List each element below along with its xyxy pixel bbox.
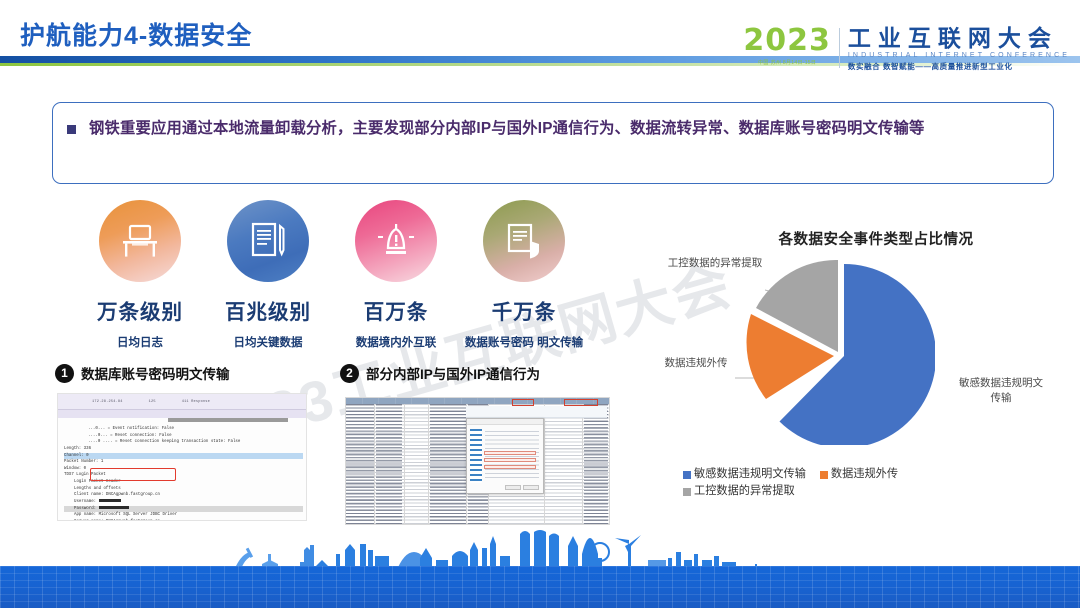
slide: 护航能力4-数据安全 2023 中国·苏州 8月14日-15日 工业互联网大会 … — [0, 0, 1080, 608]
legend-item-orange: 数据违规外传 — [820, 466, 898, 483]
highlight-box — [564, 399, 598, 406]
metric-card: 百万条 数据境内外互联 — [336, 200, 456, 352]
callout-orange: 数据违规外传 — [659, 356, 733, 371]
legend-swatch-orange — [820, 471, 828, 479]
dialog-ok-button[interactable] — [505, 485, 521, 490]
card-subtitle: 日均日志 — [80, 336, 200, 352]
card-circle — [355, 200, 437, 282]
username-label: Username: — [74, 500, 96, 504]
filter-dialog[interactable] — [466, 418, 544, 494]
table-column-data — [376, 404, 402, 525]
highlight-box — [512, 399, 534, 406]
card-subtitle: 数据境内外互联 — [336, 336, 456, 352]
packet-detail-line-password: Password: — [64, 506, 303, 513]
packet-list-row: 172.28.254.84 125 411 Response — [58, 394, 306, 410]
dialog-ribbon — [466, 406, 607, 418]
packet-detail-line: ....0... = Reset connection: False — [64, 433, 303, 440]
legend-item-gray: 工控数据的异常提取 — [683, 483, 795, 500]
packet-detail-line-selected[interactable]: Channel: 0 — [64, 453, 303, 460]
legend-item-blue: 敏感数据违规明文传输 — [683, 466, 806, 483]
bottom-banner — [0, 530, 1080, 608]
packet-detail-line: ....0 .... = Reset connection keeping tr… — [64, 439, 303, 446]
packet-info: 411 Response — [182, 400, 210, 404]
logo-text-block: 工业互联网大会 INDUSTRIAL INTERNET CONFERENCE 数… — [848, 26, 1070, 72]
bullet-box: 钢铁重要应用通过本地流量卸载分析，主要发现部分内部IP与国外IP通信行为、数据流… — [52, 102, 1054, 184]
dialog-highlight-row — [484, 451, 536, 455]
logo-date: 中国·苏州 8月14日-15日 — [758, 59, 816, 66]
section-label: 数据库账号密码明文传输 — [81, 363, 230, 383]
card-circle — [227, 200, 309, 282]
chart-legend: 敏感数据违规明文传输 数据违规外传 工控数据的异常提取 — [683, 466, 1075, 501]
card-title: 万条级别 — [80, 295, 200, 325]
packet-detail-line: App name: Microsoft SQL Server JDBC Driv… — [64, 512, 303, 519]
password-redaction — [99, 506, 129, 509]
callout-blue: 敏感数据违规明文传输 — [955, 376, 1047, 405]
ground-grid — [0, 566, 1080, 608]
callout-gray: 工控数据的异常提取 — [665, 256, 765, 271]
packet-detail-line: TDS7 Login Packet — [64, 472, 303, 479]
logo-slogan: 数实融合 数智赋能——高质量推进新型工业化 — [848, 61, 1070, 72]
logo-chinese-name: 工业互联网大会 — [848, 26, 1070, 50]
logo-year-block: 2023 中国·苏州 8月14日-15日 — [743, 26, 831, 66]
dialog-highlight-row — [484, 465, 536, 469]
password-label: Password: — [74, 507, 96, 511]
legend-label: 敏感数据违规明文传输 — [694, 466, 806, 483]
packet-detail-line: Length: 336 — [64, 446, 303, 453]
legend-label: 工控数据的异常提取 — [694, 483, 795, 500]
legend-label: 数据违规外传 — [831, 466, 898, 483]
packet-detail-line: Login Packet Header — [64, 479, 303, 486]
metric-card: 千万条 数据账号密码 明文传输 — [464, 200, 584, 352]
dialog-cancel-button[interactable] — [523, 485, 539, 490]
table-grid — [346, 404, 609, 525]
pie-graphic — [745, 260, 935, 445]
table-column-data — [346, 404, 374, 525]
conference-logo: 2023 中国·苏州 8月14日-15日 工业互联网大会 INDUSTRIAL … — [743, 26, 1070, 72]
metric-card: 百兆级别 日均关键数据 — [208, 200, 328, 352]
packet-length: 125 — [149, 400, 156, 404]
legend-swatch-gray — [683, 488, 691, 496]
dialog-highlight-row — [484, 458, 536, 462]
logo-year: 2023 — [743, 26, 831, 56]
card-title: 百万条 — [336, 295, 456, 325]
packet-detail-line: Window: 0 — [64, 466, 303, 473]
chart-title: 各数据安全事件类型占比情况 — [677, 228, 1075, 249]
card-circle — [483, 200, 565, 282]
card-title: 千万条 — [464, 295, 584, 325]
section-number-badge: 1 — [55, 364, 74, 383]
pie-chart: 各数据安全事件类型占比情况 工控数据的异常提取 数据违规外传 敏感数据违规明文传… — [655, 228, 1075, 518]
section-header-1: 1 数据库账号密码明文传输 — [55, 363, 230, 383]
card-circle — [99, 200, 181, 282]
packet-detail-line: Lengths and offsets — [64, 486, 303, 493]
card-title: 百兆级别 — [208, 295, 328, 325]
dialog-rows — [485, 431, 539, 479]
metric-cards: 万条级别 日均日志 百兆级别 日均关键数据 — [80, 200, 580, 360]
logo-english-name: INDUSTRIAL INTERNET CONFERENCE — [848, 52, 1070, 59]
packet-detail-line: Server name: DNCAgpwnb.fastgroup.cn — [64, 519, 303, 521]
packet-source-ip: 172.28.254.84 — [92, 400, 123, 404]
packet-capture-screenshot: 172.28.254.84 125 411 Response ...0... =… — [57, 393, 307, 521]
table-column-data — [584, 404, 608, 525]
dialog-list[interactable] — [470, 429, 482, 483]
packet-detail-line: Packet Number: 1 — [64, 459, 303, 466]
section-label: 部分内部IP与国外IP通信行为 — [366, 363, 540, 383]
bullet-text: 钢铁重要应用通过本地流量卸载分析，主要发现部分内部IP与国外IP通信行为、数据流… — [89, 115, 1039, 143]
logo-divider — [839, 28, 840, 68]
table-column-data — [430, 404, 466, 525]
packet-list-row-dim — [58, 410, 306, 418]
log-table-screenshot — [345, 397, 610, 525]
username-redaction — [99, 499, 121, 502]
section-header-2: 2 部分内部IP与国外IP通信行为 — [340, 363, 540, 383]
packet-detail-line-username: Username: — [64, 499, 303, 506]
metric-card: 万条级别 日均日志 — [80, 200, 200, 352]
section-number-badge: 2 — [340, 364, 359, 383]
bullet-square-icon — [67, 125, 76, 134]
packet-detail-line: ...0... = Event notification: False — [64, 426, 303, 433]
packet-detail-line: Client name: DNCAgpwnb.fastgroup.cn — [64, 492, 303, 499]
page-title: 护航能力4-数据安全 — [20, 16, 252, 52]
dialog-title-bar — [467, 419, 543, 425]
legend-swatch-blue — [683, 471, 691, 479]
card-subtitle: 数据账号密码 明文传输 — [464, 336, 584, 352]
card-subtitle: 日均关键数据 — [208, 336, 328, 352]
packet-detail-tree: ...0... = Event notification: False ....… — [58, 422, 306, 521]
